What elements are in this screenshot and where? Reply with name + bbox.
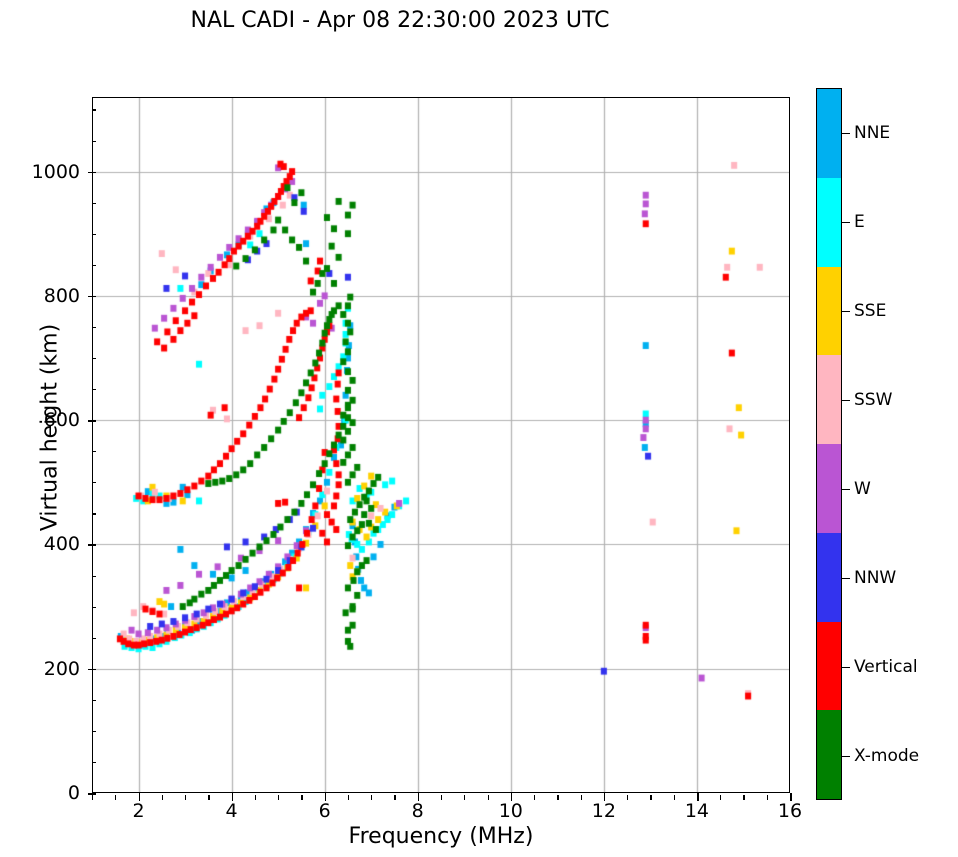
x-tick-label: 8: [393, 800, 443, 822]
x-minor-tick-mark: [534, 795, 535, 800]
x-tick-label: 16: [765, 800, 815, 822]
x-minor-tick-mark: [115, 795, 116, 800]
y-tick-mark: [88, 172, 96, 174]
x-minor-tick-mark: [255, 795, 256, 800]
x-tick-mark: [232, 793, 234, 801]
y-minor-tick-mark: [92, 109, 96, 110]
x-axis-label: Frequency (MHz): [92, 824, 790, 849]
y-tick-mark: [88, 420, 96, 422]
colorbar-band-vertical: [817, 622, 841, 711]
y-minor-tick-mark: [92, 358, 96, 359]
y-tick-label: 1000: [28, 161, 80, 183]
x-minor-tick-mark: [488, 795, 489, 800]
x-minor-tick-mark: [743, 795, 744, 800]
x-tick-mark: [697, 793, 699, 801]
y-minor-tick-mark: [92, 700, 96, 701]
colorbar-tick-mark: [842, 756, 850, 758]
x-minor-tick-mark: [348, 795, 349, 800]
x-minor-tick-mark: [92, 795, 93, 800]
colorbar-label-x-mode: X-mode: [854, 746, 919, 766]
y-minor-tick-mark: [92, 327, 96, 328]
x-minor-tick-mark: [162, 795, 163, 800]
x-minor-tick-mark: [185, 795, 186, 800]
colorbar-band-nnw: [817, 533, 841, 622]
y-minor-tick-mark: [92, 513, 96, 514]
x-tick-label: 2: [114, 800, 164, 822]
colorbar-label-w: W: [854, 479, 871, 499]
colorbar-band-e: [817, 178, 841, 267]
colorbar-ticks: [842, 88, 852, 800]
plot-area: [92, 97, 790, 793]
x-tick-mark: [139, 793, 141, 801]
x-minor-tick-mark: [720, 795, 721, 800]
x-tick-label: 14: [672, 800, 722, 822]
x-minor-tick-mark: [650, 795, 651, 800]
colorbar-band-w: [817, 444, 841, 533]
colorbar-tick-mark: [842, 489, 850, 491]
colorbar-band-sse: [817, 267, 841, 356]
colorbar-tick-mark: [842, 222, 850, 224]
x-tick-label: 4: [207, 800, 257, 822]
colorbar-tick-mark: [842, 400, 850, 402]
x-tick-mark: [604, 793, 606, 801]
colorbar-tick-mark: [842, 311, 850, 313]
colorbar-labels: NNEESSESSWWNNWVerticalX-mode: [854, 88, 954, 800]
colorbar-tick-mark: [842, 133, 850, 135]
colorbar-band-x-mode: [817, 710, 841, 799]
y-tick-mark: [88, 544, 96, 546]
colorbar-label-ssw: SSW: [854, 390, 892, 410]
y-minor-tick-mark: [92, 203, 96, 204]
x-minor-tick-mark: [767, 795, 768, 800]
colorbar-label-sse: SSE: [854, 301, 886, 321]
y-minor-tick-mark: [92, 265, 96, 266]
x-minor-tick-mark: [627, 795, 628, 800]
y-tick-mark: [88, 669, 96, 671]
y-minor-tick-mark: [92, 141, 96, 142]
x-tick-mark: [790, 793, 792, 801]
x-tick-label: 12: [579, 800, 629, 822]
colorbar-band-nne: [817, 89, 841, 178]
colorbar-label-nnw: NNW: [854, 568, 896, 588]
x-minor-tick-mark: [464, 795, 465, 800]
colorbar-label-vertical: Vertical: [854, 657, 918, 677]
x-minor-tick-mark: [301, 795, 302, 800]
y-minor-tick-mark: [92, 389, 96, 390]
x-tick-label: 6: [300, 800, 350, 822]
page-title: NAL CADI - Apr 08 22:30:00 2023 UTC: [0, 8, 800, 33]
y-axis-label: Virtual height (km): [38, 248, 63, 608]
x-minor-tick-mark: [208, 795, 209, 800]
y-minor-tick-mark: [92, 576, 96, 577]
colorbar-tick-mark: [842, 578, 850, 580]
x-minor-tick-mark: [394, 795, 395, 800]
x-minor-tick-mark: [557, 795, 558, 800]
x-tick-mark: [418, 793, 420, 801]
x-minor-tick-mark: [581, 795, 582, 800]
y-minor-tick-mark: [92, 731, 96, 732]
x-minor-tick-mark: [674, 795, 675, 800]
x-tick-mark: [325, 793, 327, 801]
y-tick-mark: [88, 296, 96, 298]
scatter-data-layer: [92, 97, 790, 793]
azimuth-colorbar: [816, 88, 842, 800]
x-minor-tick-mark: [371, 795, 372, 800]
y-minor-tick-mark: [92, 451, 96, 452]
y-tick-label: 200: [28, 658, 80, 680]
ionogram-figure: NAL CADI - Apr 08 22:30:00 2023 UTC 0200…: [0, 0, 958, 857]
y-minor-tick-mark: [92, 762, 96, 763]
colorbar-label-e: E: [854, 212, 865, 232]
y-minor-tick-mark: [92, 607, 96, 608]
colorbar-tick-mark: [842, 667, 850, 669]
y-minor-tick-mark: [92, 234, 96, 235]
x-tick-label: 10: [486, 800, 536, 822]
colorbar-label-nne: NNE: [854, 123, 890, 143]
colorbar-band-ssw: [817, 355, 841, 444]
x-minor-tick-mark: [278, 795, 279, 800]
y-minor-tick-mark: [92, 482, 96, 483]
x-minor-tick-mark: [441, 795, 442, 800]
x-tick-mark: [511, 793, 513, 801]
y-minor-tick-mark: [92, 638, 96, 639]
